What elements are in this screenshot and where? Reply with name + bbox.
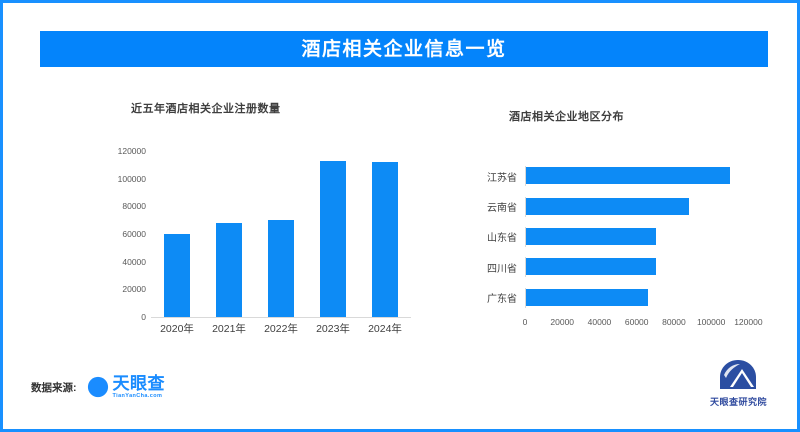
bar[interactable]: [526, 198, 689, 215]
bar-row[interactable]: 江苏省: [447, 166, 767, 186]
institute-logo: 天眼查研究院: [710, 359, 767, 408]
category-label: 山东省: [447, 229, 525, 244]
x-axis-tick: 0: [523, 317, 528, 327]
bar[interactable]: [372, 162, 398, 317]
bar[interactable]: [320, 161, 346, 317]
bar[interactable]: [268, 220, 294, 317]
bar-track: [525, 197, 767, 217]
region-x-axis-ticks: 020000400006000080000100000120000: [525, 315, 767, 331]
category-label: 江苏省: [447, 169, 525, 184]
x-axis-tick: 20000: [550, 317, 574, 327]
vertical-bar-plot: 120000100000800006000040000200000: [101, 151, 411, 317]
tianyancha-name: 天眼查: [113, 375, 166, 392]
chart-title-regions: 酒店相关企业地区分布: [509, 108, 624, 124]
tianyancha-domain: TianYanCha.com: [113, 394, 166, 400]
category-label: 云南省: [447, 199, 525, 214]
x-axis-tick: 2024年: [368, 321, 402, 336]
y-axis-tick: 120000: [118, 146, 146, 156]
bar-row[interactable]: 山东省: [447, 227, 767, 247]
bar[interactable]: [164, 234, 190, 317]
page-title: 酒店相关企业信息一览: [301, 40, 506, 59]
category-label: 广东省: [447, 290, 525, 305]
bar-row[interactable]: 云南省: [447, 197, 767, 217]
bar[interactable]: [526, 167, 730, 184]
tianyancha-wordmark: 天眼查 TianYanCha.com: [113, 375, 166, 400]
bar-track: [525, 288, 767, 308]
bar-column[interactable]: [310, 151, 357, 317]
x-axis-tick: 2021年: [212, 321, 246, 336]
bar-row[interactable]: 广东省: [447, 288, 767, 308]
bar-column[interactable]: [258, 151, 305, 317]
y-axis-tick: 40000: [122, 257, 146, 267]
bar[interactable]: [526, 228, 656, 245]
title-banner: 酒店相关企业信息一览: [40, 31, 768, 67]
institute-arch-icon: [718, 359, 758, 393]
data-source: 数据来源: 天眼查 TianYanCha.com: [31, 375, 165, 400]
bar[interactable]: [526, 289, 648, 306]
y-axis-tick: 0: [141, 312, 146, 322]
footer: 数据来源: 天眼查 TianYanCha.com 天眼查研究: [3, 351, 800, 429]
x-axis-tick: 100000: [697, 317, 725, 327]
bar-track: [525, 227, 767, 247]
bar-track: [525, 166, 767, 186]
x-axis-ticks: 2020年2021年2022年2023年2024年: [151, 321, 411, 336]
institute-name: 天眼查研究院: [710, 395, 767, 408]
category-label: 四川省: [447, 260, 525, 275]
bar[interactable]: [216, 223, 242, 317]
y-axis-ticks: 120000100000800006000040000200000: [101, 151, 151, 317]
y-axis-tick: 60000: [122, 229, 146, 239]
y-axis-tick: 80000: [122, 201, 146, 211]
x-axis-tick: 2023年: [316, 321, 350, 336]
bar-track: [525, 257, 767, 277]
x-axis-tick: 2022年: [264, 321, 298, 336]
x-axis-tick: 60000: [625, 317, 649, 327]
charts-container: 近五年酒店相关企业注册数量 12000010000080000600004000…: [3, 89, 800, 354]
registrations-bar-chart: 近五年酒店相关企业注册数量 12000010000080000600004000…: [43, 89, 423, 354]
x-axis-tick: 80000: [662, 317, 686, 327]
eye-circle-icon: [87, 376, 109, 398]
y-axis-tick: 100000: [118, 174, 146, 184]
data-source-label: 数据来源:: [31, 380, 77, 395]
bar-row[interactable]: 四川省: [447, 257, 767, 277]
bar-column[interactable]: [206, 151, 253, 317]
bar-column[interactable]: [362, 151, 409, 317]
x-axis-tick: 2020年: [160, 321, 194, 336]
horizontal-bar-plot: 江苏省云南省山东省四川省广东省 020000400006000080000100…: [447, 161, 767, 321]
chart-title-registrations: 近五年酒店相关企业注册数量: [131, 100, 281, 116]
bar-column[interactable]: [154, 151, 201, 317]
vertical-bars: [151, 151, 411, 318]
region-distribution-chart: 酒店相关企业地区分布 江苏省云南省山东省四川省广东省 0200004000060…: [433, 89, 783, 354]
horizontal-bars: 江苏省云南省山东省四川省广东省: [447, 161, 767, 313]
x-axis-tick: 120000: [734, 317, 762, 327]
x-axis-tick: 40000: [588, 317, 612, 327]
tianyancha-logo: 天眼查 TianYanCha.com: [87, 375, 166, 400]
y-axis-tick: 20000: [122, 284, 146, 294]
bar[interactable]: [526, 258, 656, 275]
infographic-poster: 酒店相关企业信息一览 近五年酒店相关企业注册数量 120000100000800…: [0, 0, 800, 432]
